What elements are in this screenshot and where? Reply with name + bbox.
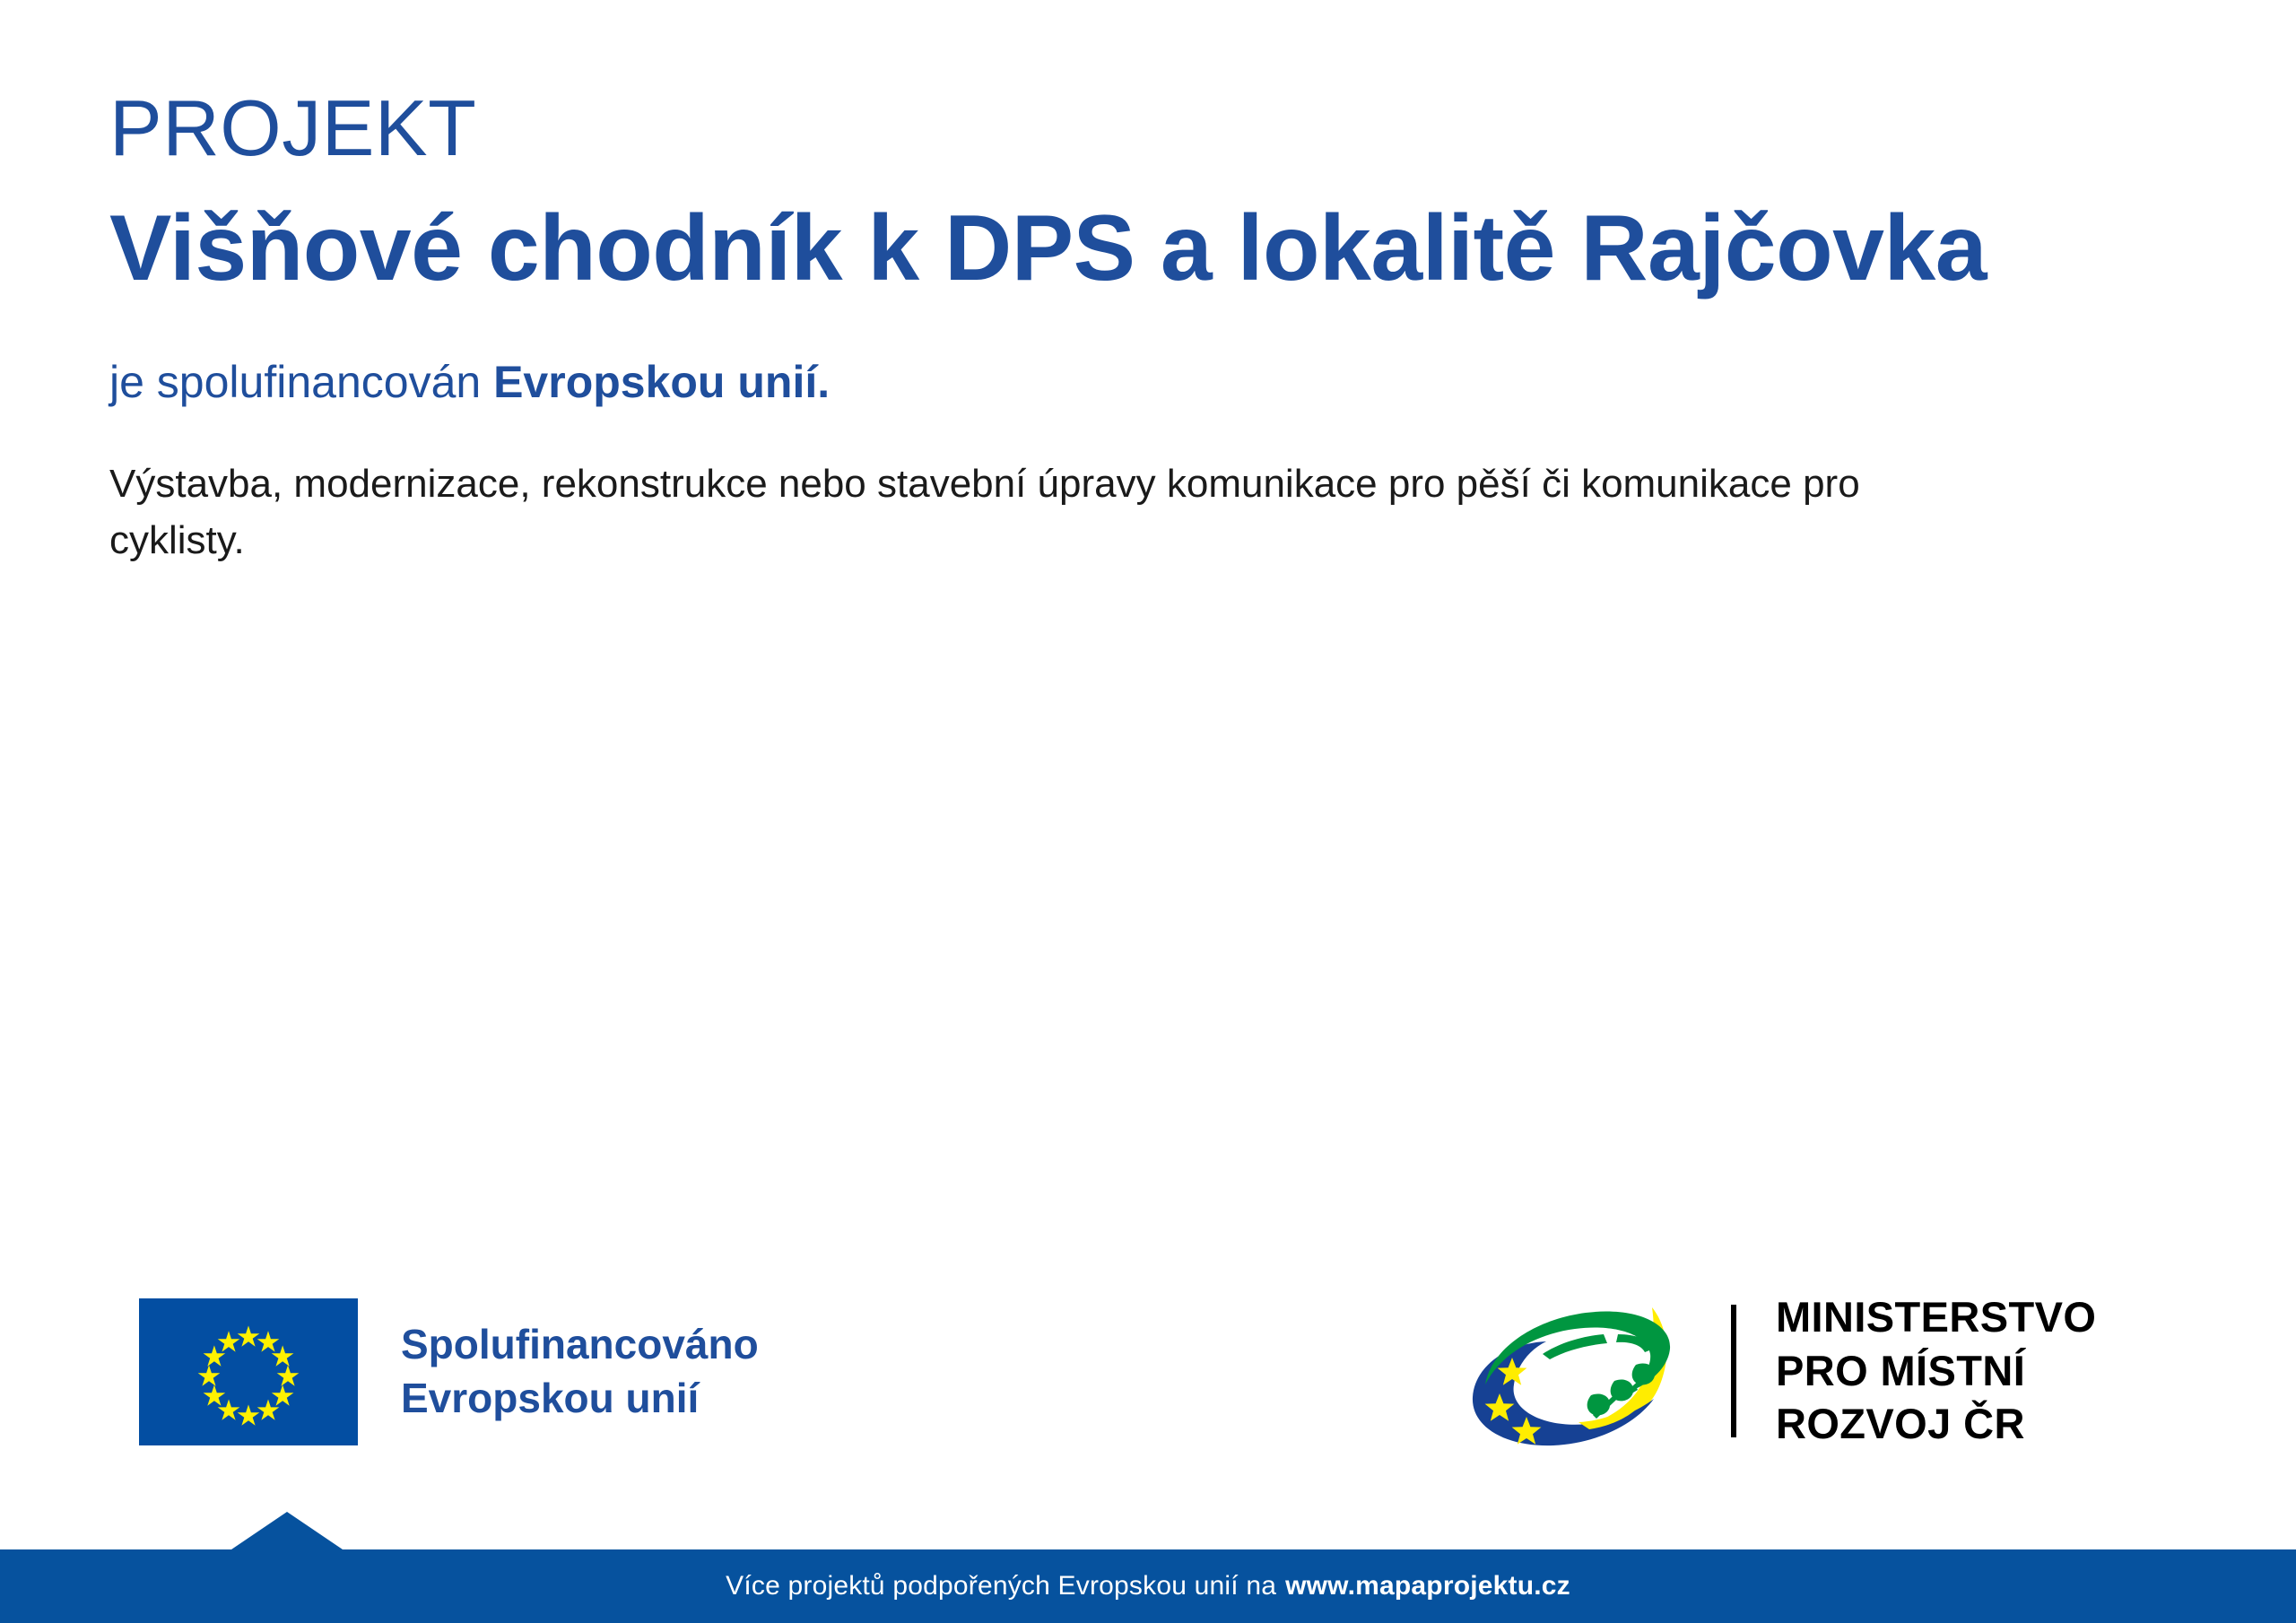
eu-logo-text-line1: Spolufinancováno xyxy=(401,1318,759,1372)
footer-bar: Více projektů podpořených Evropskou unií… xyxy=(0,1549,2296,1623)
eu-logo-text: Spolufinancováno Evropskou unií xyxy=(401,1318,759,1426)
eu-flag-icon xyxy=(139,1298,358,1445)
cofinancing-prefix: je spolufinancován xyxy=(109,357,493,407)
poster-root: PROJEKT Višňové chodník k DPS a lokalitě… xyxy=(0,0,2296,1623)
eu-logo-lockup: Spolufinancováno Evropskou unií xyxy=(139,1298,759,1445)
ministry-text-line1: MINISTERSTVO xyxy=(1776,1290,2096,1344)
eyebrow-label: PROJEKT xyxy=(109,86,2100,169)
footer-notch-triangle xyxy=(231,1512,343,1549)
eu-logo-text-line2: Evropskou unií xyxy=(401,1372,759,1426)
ministry-text-line2: PRO MÍSTNÍ xyxy=(1776,1344,2096,1398)
footer-content: Více projektů podpořených Evropskou unií… xyxy=(0,1549,2296,1623)
ministry-text-line3: ROZVOJ ČR xyxy=(1776,1397,2096,1451)
content-block: PROJEKT Višňové chodník k DPS a lokalitě… xyxy=(109,86,2100,568)
project-description: Výstavba, modernizace, rekonstrukce nebo… xyxy=(109,456,1957,568)
ministry-logo-text: MINISTERSTVO PRO MÍSTNÍ ROZVOJ ČR xyxy=(1776,1290,2096,1451)
footer-label: Více projektů podpořených Evropskou unií… xyxy=(726,1571,1276,1601)
cofinancing-emphasis: Evropskou unií. xyxy=(493,357,830,407)
cofinancing-statement: je spolufinancován Evropskou unií. xyxy=(109,354,2100,411)
ministry-divider xyxy=(1731,1305,1736,1437)
ministry-emblem-icon xyxy=(1460,1288,1704,1454)
footer-url-link[interactable]: www.mapaprojektu.cz xyxy=(1285,1571,1570,1601)
ministry-logo-lockup: MINISTERSTVO PRO MÍSTNÍ ROZVOJ ČR xyxy=(1460,1288,2096,1454)
page-title: Višňové chodník k DPS a lokalitě Rajčovk… xyxy=(109,195,2056,304)
logo-strip: Spolufinancováno Evropskou unií xyxy=(0,1282,2296,1488)
